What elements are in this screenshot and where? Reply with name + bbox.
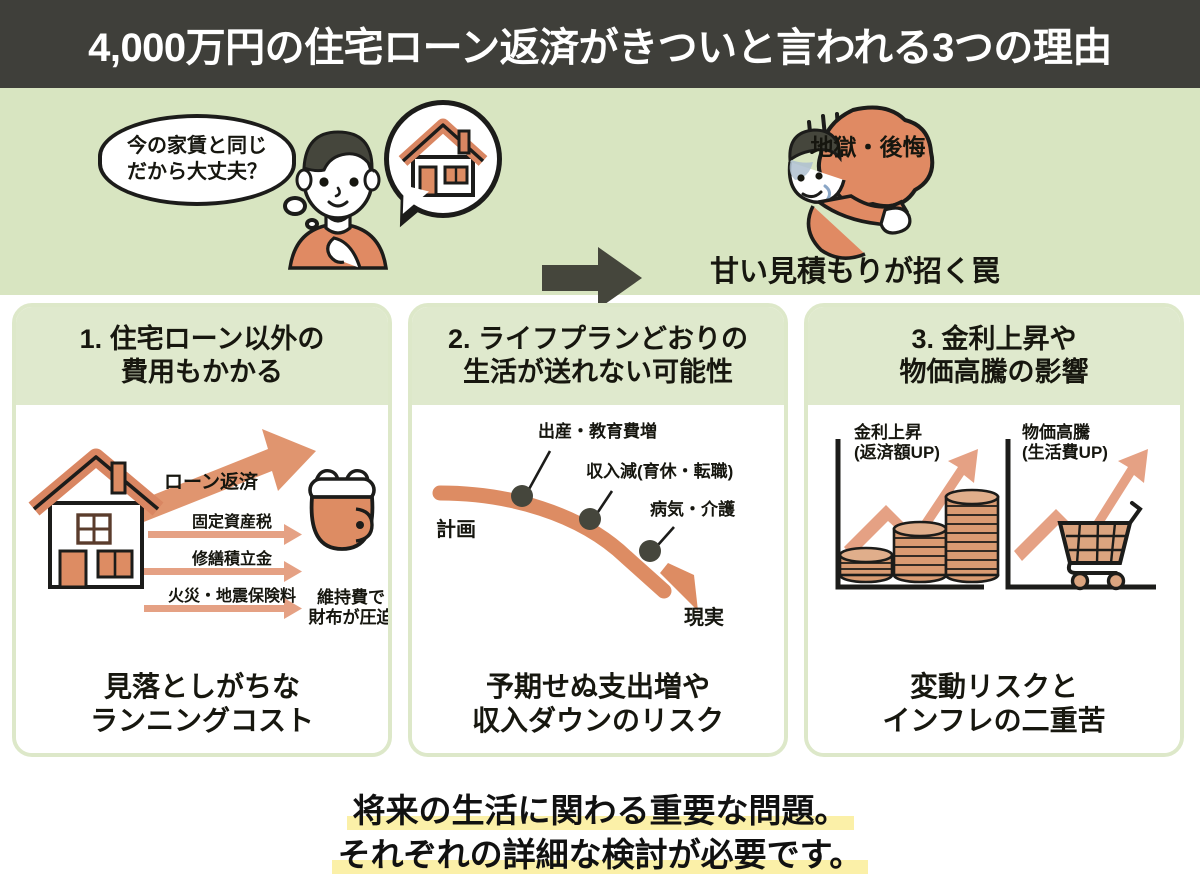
thought-bubble-line2: だから大丈夫？ <box>127 160 267 186</box>
price-inflation-label-line1: 物価高騰 <box>1022 423 1108 443</box>
reason-card-3-diagram: 金利上昇 (返済額UP) 物価高騰 (生活費UP) <box>808 405 1180 655</box>
coin-stack-small <box>840 548 892 582</box>
reason-card-2-title-line2: 生活が送れない可能性 <box>463 356 733 389</box>
event-label-3: 病気・介護 <box>650 495 735 520</box>
wallet-caption-line1: 維持費で <box>304 588 392 608</box>
coin-stack-medium <box>894 522 946 582</box>
price-inflation-label-line2: (生活費UP) <box>1022 443 1108 463</box>
interest-rate-label-line1: 金利上昇 <box>854 423 940 443</box>
title-bar: 4,000万円の住宅ローン返済がきついと言われる3つの理由 <box>0 0 1200 88</box>
hero-caption: 甘い見積もりが招く罠 <box>690 248 1020 290</box>
reason-card-3-summary-line1: 変動リスクと <box>910 670 1078 704</box>
reason-card-1[interactable]: 1. 住宅ローン以外の 費用もかかる <box>12 303 392 757</box>
wallet-caption: 維持費で 財布が圧迫 <box>304 588 392 629</box>
footer-line-1-wrap: 将来の生活に関わる重要な問題。 <box>353 790 848 832</box>
reason-card-3-header: 3. 金利上昇や 物価高騰の影響 <box>808 307 1180 405</box>
footer-line-2-wrap: それぞれの詳細な検討が必要です。 <box>338 834 863 876</box>
reason-card-3-summary: 変動リスクと インフレの二重苦 <box>808 655 1180 753</box>
thought-bubble: 今の家賃と同じ だから大丈夫？ <box>98 114 296 206</box>
wallet-caption-line2: 財布が圧迫 <box>304 608 392 628</box>
cost-item-label-1: 固定資産税 <box>192 508 272 532</box>
reason-cards: 1. 住宅ローン以外の 費用もかかる <box>0 303 1200 763</box>
reality-label: 現実 <box>684 601 724 630</box>
reason-card-1-header: 1. 住宅ローン以外の 費用もかかる <box>16 307 388 405</box>
cost-item-label-2: 修繕積立金 <box>192 545 272 569</box>
footer-line-1: 将来の生活に関わる重要な問題。 <box>353 792 848 829</box>
reason-card-1-summary-line1: 見落としがちな <box>104 670 300 704</box>
reason-card-2-title-line1: 2. ライフプランどおりの <box>448 323 748 356</box>
cost-item-label-3: 火災・地震保険料 <box>168 582 296 606</box>
coin-stack-large <box>946 490 998 582</box>
event-dot-1 <box>511 485 533 507</box>
reason-card-3-title-line2: 物価高騰の影響 <box>900 356 1089 389</box>
price-inflation-label: 物価高騰 (生活費UP) <box>1022 423 1108 463</box>
event-dot-3 <box>639 540 661 562</box>
reason-card-1-title-line2: 費用もかかる <box>121 356 283 389</box>
page-title: 4,000万円の住宅ローン返済がきついと言われる3つの理由 <box>88 15 1112 73</box>
house-illustration <box>34 457 158 587</box>
reason-card-3-title-line1: 3. 金利上昇や <box>911 323 1076 356</box>
burden-label: 地獄・後悔 <box>798 128 938 162</box>
reason-card-2-header: 2. ライフプランどおりの 生活が送れない可能性 <box>412 307 784 405</box>
event-dot-2 <box>579 508 601 530</box>
hero-illustration-band: 今の家賃と同じ だから大丈夫？ <box>0 88 1200 295</box>
interest-rate-label-line2: (返済額UP) <box>854 443 940 463</box>
interest-rate-label: 金利上昇 (返済額UP) <box>854 423 940 463</box>
reason-card-1-summary-line2: ランニングコスト <box>90 704 314 738</box>
reason-card-1-summary: 見落としがちな ランニングコスト <box>16 655 388 753</box>
reason-card-2-summary-line1: 予期せぬ支出増や <box>486 670 710 704</box>
reason-card-2-summary-line2: 収入ダウンのリスク <box>472 704 724 738</box>
reason-card-2[interactable]: 2. ライフプランどおりの 生活が送れない可能性 <box>408 303 788 757</box>
footer-conclusion: 将来の生活に関わる重要な問題。 それぞれの詳細な検討が必要です。 <box>0 770 1200 896</box>
reason-card-3[interactable]: 3. 金利上昇や 物価高騰の影響 <box>804 303 1184 757</box>
person-burdened-illustration <box>735 102 950 267</box>
event-label-2: 収入減(育休・転職) <box>586 457 733 482</box>
reason-card-1-diagram: ローン返済 固定資産税 修繕積立金 火災・地震保険料 維持費で 財布が圧迫 <box>16 405 388 655</box>
reason-card-1-title-line1: 1. 住宅ローン以外の <box>80 323 325 356</box>
footer-line-2: それぞれの詳細な検討が必要です。 <box>338 836 863 873</box>
event-label-1: 出産・教育費増 <box>538 417 657 442</box>
infographic-page: 4,000万円の住宅ローン返済がきついと言われる3つの理由 今の家賃と同じ だか… <box>0 0 1200 896</box>
plan-label: 計画 <box>436 513 476 542</box>
wallet-icon <box>310 471 374 549</box>
reason-card-2-summary: 予期せぬ支出増や 収入ダウンのリスク <box>412 655 784 753</box>
loan-arrow-label: ローン返済 <box>164 467 258 494</box>
reason-card-2-diagram: 計画 出産・教育費増 収入減(育休・転職) 病気・介護 現実 <box>412 405 784 655</box>
thought-bubble-line1: 今の家賃と同じ <box>127 134 267 160</box>
reason-card-3-summary-line2: インフレの二重苦 <box>882 704 1105 738</box>
